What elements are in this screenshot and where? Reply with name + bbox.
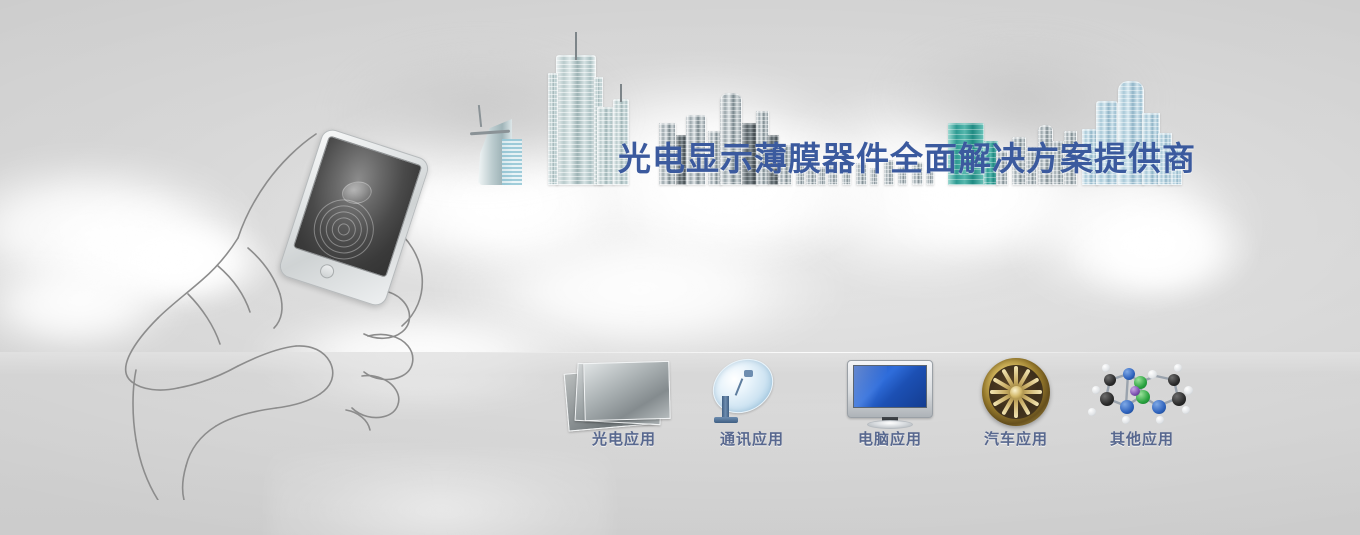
molecule-icon (1078, 356, 1206, 428)
page-title: 光电显示薄膜器件全面解决方案提供商 (618, 140, 1196, 178)
glass-film-sheets-icon (560, 356, 688, 428)
application-list: 光电应用 通讯应用 电脑应用 (560, 356, 1200, 471)
application-item-computer[interactable]: 电脑应用 (826, 356, 954, 449)
application-label: 其他应用 (1078, 428, 1206, 449)
application-item-optoelectronic[interactable]: 光电应用 (560, 356, 688, 449)
hand-outline-icon (120, 120, 490, 500)
application-label: 汽车应用 (952, 428, 1080, 449)
application-item-communication[interactable]: 通讯应用 (688, 356, 816, 449)
horizon-line (430, 352, 1210, 353)
wheel-rim-icon (952, 356, 1080, 428)
application-label: 通讯应用 (688, 428, 816, 449)
application-label: 光电应用 (560, 428, 688, 449)
satellite-dish-icon (688, 356, 816, 428)
application-item-automotive[interactable]: 汽车应用 (952, 356, 1080, 449)
application-item-other[interactable]: 其他应用 (1078, 356, 1206, 449)
hand-holding-smartphone-sketch (120, 120, 490, 500)
application-label: 电脑应用 (826, 428, 954, 449)
hero-banner: 光电显示薄膜器件全面解决方案提供商 光电应用 通讯应用 (0, 0, 1360, 535)
monitor-icon (826, 356, 954, 428)
ground-haze (270, 450, 610, 535)
